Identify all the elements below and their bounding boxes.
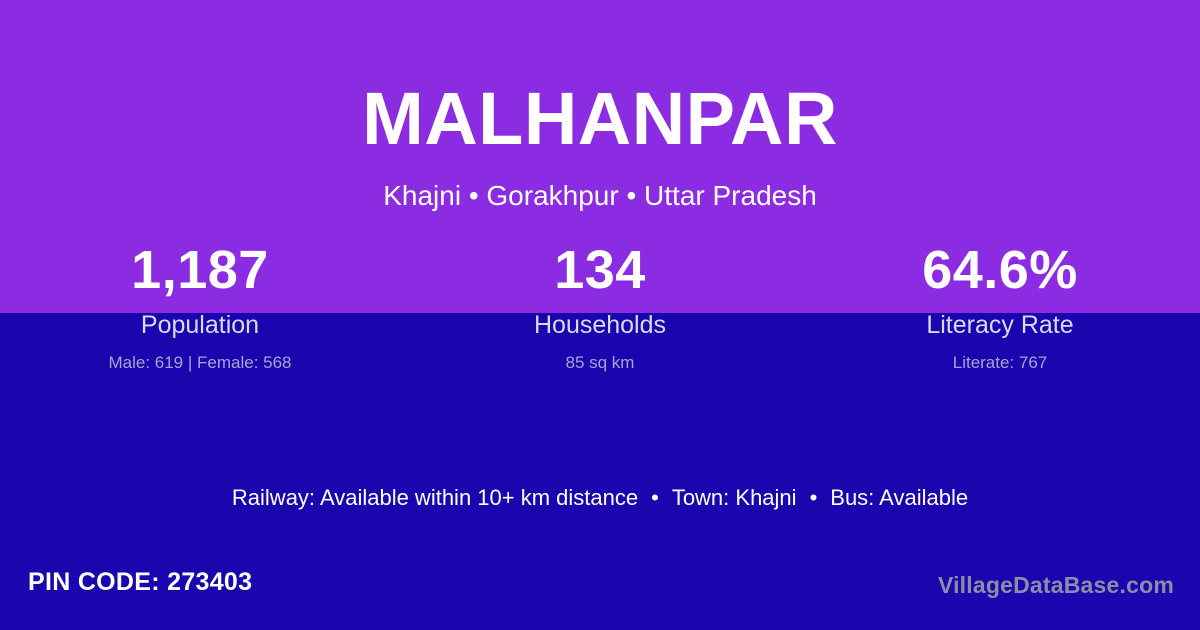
stat-households-value: 134 xyxy=(400,243,800,297)
stat-population-breakdown: Male: 619 | Female: 568 xyxy=(0,354,400,371)
stat-population: 1,187 Population Male: 619 | Female: 568 xyxy=(0,243,400,371)
village-info-card: MALHANPAR Khajni • Gorakhpur • Uttar Pra… xyxy=(0,0,1200,630)
facility-bus: Bus: Available xyxy=(830,485,968,510)
stat-households-area: 85 sq km xyxy=(400,354,800,371)
pin-code-label: PIN CODE: 273403 xyxy=(28,570,252,595)
facilities-line: Railway: Available within 10+ km distanc… xyxy=(0,487,1200,509)
stat-literacy: 64.6% Literacy Rate Literate: 767 xyxy=(800,243,1200,371)
facility-separator-icon: • xyxy=(797,487,831,509)
facility-railway: Railway: Available within 10+ km distanc… xyxy=(232,485,638,510)
facility-separator-icon: • xyxy=(638,487,672,509)
breadcrumb: Khajni • Gorakhpur • Uttar Pradesh xyxy=(0,156,1200,210)
page-title: MALHANPAR xyxy=(0,0,1200,156)
site-brand-watermark: VillageDataBase.com xyxy=(938,574,1174,597)
stat-households: 134 Households 85 sq km xyxy=(400,243,800,371)
stat-population-value: 1,187 xyxy=(0,243,400,297)
card-footer: PIN CODE: 273403 VillageDataBase.com xyxy=(0,554,1200,630)
stat-literacy-value: 64.6% xyxy=(800,243,1200,297)
stat-literacy-count: Literate: 767 xyxy=(800,354,1200,371)
stats-row: 1,187 Population Male: 619 | Female: 568… xyxy=(0,243,1200,371)
facility-town: Town: Khajni xyxy=(672,485,797,510)
stat-population-label: Population xyxy=(0,313,400,338)
stat-households-label: Households xyxy=(400,313,800,338)
card-header: MALHANPAR Khajni • Gorakhpur • Uttar Pra… xyxy=(0,0,1200,210)
stat-literacy-label: Literacy Rate xyxy=(800,313,1200,338)
